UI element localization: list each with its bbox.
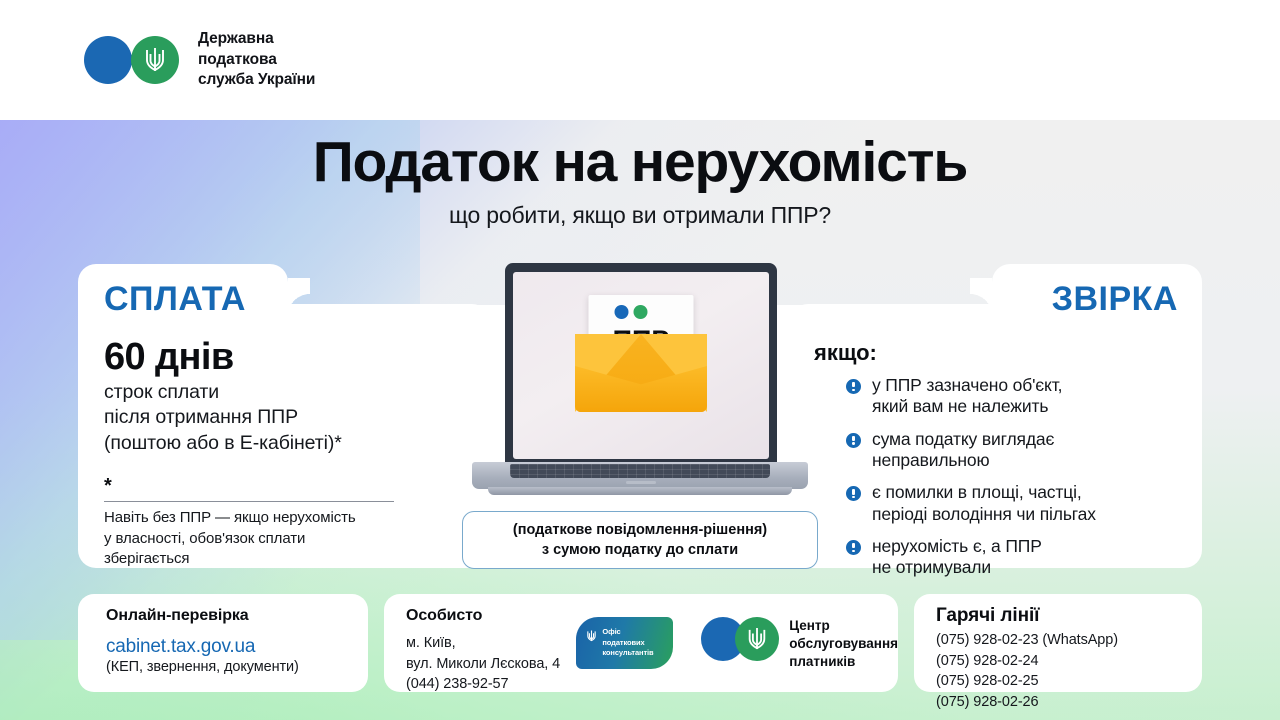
- hotline-card: Гарячі лінії (075) 928-02-23 (WhatsApp) …: [914, 594, 1202, 692]
- info-exclamation-icon: [846, 433, 861, 448]
- online-check-subtext: (КЕП, звернення, документи): [106, 659, 368, 675]
- payment-desc-line2: після отримання ППР: [104, 405, 464, 430]
- list-item-line2: періоді володіння чи пільгах: [872, 504, 1096, 524]
- cop-line1: Центр: [789, 617, 898, 635]
- list-item-text: сума податку виглядає неправильною: [872, 429, 1054, 472]
- reconciliation-panel: ЗВІРКА якщо: у ППР зазначено об'єкт, яки…: [790, 264, 1202, 568]
- org-name: Державна податкова служба України: [198, 29, 315, 91]
- info-exclamation-icon: [846, 486, 861, 501]
- open-envelope-icon: [575, 334, 707, 412]
- in-person-row: Особисто м. Київ, вул. Миколи Лєскова, 4…: [406, 607, 898, 695]
- taxpayer-service-center-logo: Центр обслуговування платників: [701, 617, 898, 671]
- payment-desc-line1: строк сплати: [104, 380, 464, 405]
- payment-footnote-line3: зберігається: [104, 549, 464, 570]
- laptop-icon: ППР: [472, 263, 808, 495]
- footnote-divider: [104, 501, 394, 502]
- ukraine-trident-icon: [586, 629, 597, 643]
- hotline-phone-1: (075) 928-02-23 (WhatsApp): [936, 630, 1202, 651]
- list-item-line1: нерухомість є, а ППР: [872, 536, 1042, 556]
- opk-line2: податкових: [602, 638, 653, 649]
- in-person-card: Особисто м. Київ, вул. Миколи Лєскова, 4…: [384, 594, 898, 692]
- in-person-address: м. Київ, вул. Миколи Лєскова, 4 (044) 23…: [406, 633, 576, 695]
- ppr-caption-line1: (податкове повідомлення-рішення): [513, 522, 767, 538]
- hotline-title: Гарячі лінії: [936, 605, 1202, 627]
- payment-heading: СПЛАТА: [104, 282, 464, 316]
- online-check-card: Онлайн-перевірка cabinet.tax.gov.ua (КЕП…: [78, 594, 368, 692]
- list-item-line2: неправильною: [872, 450, 989, 470]
- payment-footnote-line1: Навіть без ППР — якщо нерухомість: [104, 508, 464, 529]
- cop-line3: платників: [789, 653, 898, 671]
- in-person-title: Особисто: [406, 607, 576, 625]
- list-item: є помилки в площі, частці, періоді волод…: [814, 482, 1182, 525]
- logo-green-circle: [131, 36, 179, 84]
- footnote-star: *: [104, 476, 464, 496]
- payment-footnote-line2: у власності, обов'язок сплати: [104, 529, 464, 550]
- laptop-keyboard: [510, 464, 770, 478]
- reconciliation-panel-content: ЗВІРКА якщо: у ППР зазначено об'єкт, яки…: [790, 264, 1202, 568]
- in-person-address-block: Особисто м. Київ, вул. Миколи Лєскова, 4…: [406, 607, 576, 695]
- list-item-line2: не отримували: [872, 557, 991, 577]
- reconciliation-list: у ППР зазначено об'єкт, який вам не нале…: [814, 375, 1182, 579]
- list-item-line2: який вам не належить: [872, 396, 1048, 416]
- dps-two-dots-icon: [615, 305, 648, 319]
- dps-logo-circles-icon: [701, 617, 779, 661]
- cabinet-link[interactable]: cabinet.tax.gov.ua: [106, 636, 368, 658]
- opk-line1: Офіс: [602, 627, 653, 638]
- address-line1: м. Київ,: [406, 633, 576, 654]
- taxpayer-service-center-text: Центр обслуговування платників: [789, 617, 898, 671]
- page-title: Податок на нерухомість: [0, 132, 1280, 194]
- list-item-line1: у ППР зазначено об'єкт,: [872, 375, 1062, 395]
- reconciliation-heading: ЗВІРКА: [814, 282, 1182, 316]
- list-item: нерухомість є, а ППР не отримували: [814, 536, 1182, 579]
- org-name-line3: служба України: [198, 70, 315, 91]
- payment-panel: СПЛАТА 60 днів строк сплати після отрима…: [78, 264, 490, 568]
- dps-logo-circles-icon: [84, 36, 186, 84]
- list-item-line1: є помилки в площі, частці,: [872, 482, 1082, 502]
- org-name-line1: Державна: [198, 29, 315, 50]
- laptop-lid: ППР: [505, 263, 777, 469]
- online-check-title: Онлайн-перевірка: [106, 607, 368, 625]
- address-line2: вул. Миколи Лєскова, 4: [406, 654, 576, 675]
- opk-line3: консультантів: [602, 648, 653, 659]
- laptop-foot: [488, 487, 792, 495]
- address-phone: (044) 238-92-57: [406, 674, 576, 695]
- page-subtitle: що робити, якщо ви отримали ППР?: [0, 202, 1280, 229]
- laptop-trackpad: [626, 481, 656, 484]
- logo-blue-circle: [84, 36, 132, 84]
- hotline-phone-4: (075) 928-02-26: [936, 692, 1202, 713]
- org-logo: Державна податкова служба України: [84, 29, 315, 91]
- payment-deadline-value: 60 днів: [104, 338, 464, 378]
- info-exclamation-icon: [846, 379, 861, 394]
- opk-badge-icon: Офіс податкових консультантів: [576, 617, 673, 669]
- list-item-text: у ППР зазначено об'єкт, який вам не нале…: [872, 375, 1062, 418]
- payment-desc-line3: (поштою або в Е-кабінеті)*: [104, 431, 464, 456]
- cop-line2: обслуговування: [789, 635, 898, 653]
- laptop-screen: ППР: [513, 272, 769, 459]
- payment-footnote: Навіть без ППР — якщо нерухомість у влас…: [104, 508, 464, 570]
- infographic-page: Державна податкова служба України Подато…: [0, 0, 1280, 720]
- list-item: сума податку виглядає неправильною: [814, 429, 1182, 472]
- hotline-phone-2: (075) 928-02-24: [936, 651, 1202, 672]
- list-item-text: є помилки в площі, частці, періоді волод…: [872, 482, 1096, 525]
- cop-green-circle: [735, 617, 779, 661]
- ppr-caption-box: (податкове повідомлення-рішення) з сумою…: [462, 511, 818, 569]
- ppr-caption-line2: з сумою податку до сплати: [542, 542, 738, 558]
- list-item-line1: сума податку виглядає: [872, 429, 1054, 449]
- header-band: Державна податкова служба України: [0, 0, 1280, 120]
- hotline-phone-3: (075) 928-02-25: [936, 671, 1202, 692]
- list-item-text: нерухомість є, а ППР не отримували: [872, 536, 1042, 579]
- letter-dot-blue: [615, 305, 629, 319]
- org-name-line2: податкова: [198, 50, 315, 71]
- info-exclamation-icon: [846, 540, 861, 555]
- payment-description: строк сплати після отримання ППР (поштою…: [104, 380, 464, 456]
- hotline-numbers: (075) 928-02-23 (WhatsApp) (075) 928-02-…: [936, 630, 1202, 712]
- payment-panel-content: СПЛАТА 60 днів строк сплати після отрима…: [78, 264, 490, 568]
- ukraine-trident-icon: [746, 625, 768, 653]
- reconciliation-if-label: якщо:: [814, 340, 1182, 366]
- list-item: у ППР зазначено об'єкт, який вам не нале…: [814, 375, 1182, 418]
- ukraine-trident-icon: [143, 45, 167, 75]
- opk-badge-text: Офіс податкових консультантів: [602, 627, 653, 659]
- letter-dot-green: [634, 305, 648, 319]
- title-block: Податок на нерухомість що робити, якщо в…: [0, 132, 1280, 229]
- ppr-caption-text: (податкове повідомлення-рішення) з сумою…: [513, 520, 767, 560]
